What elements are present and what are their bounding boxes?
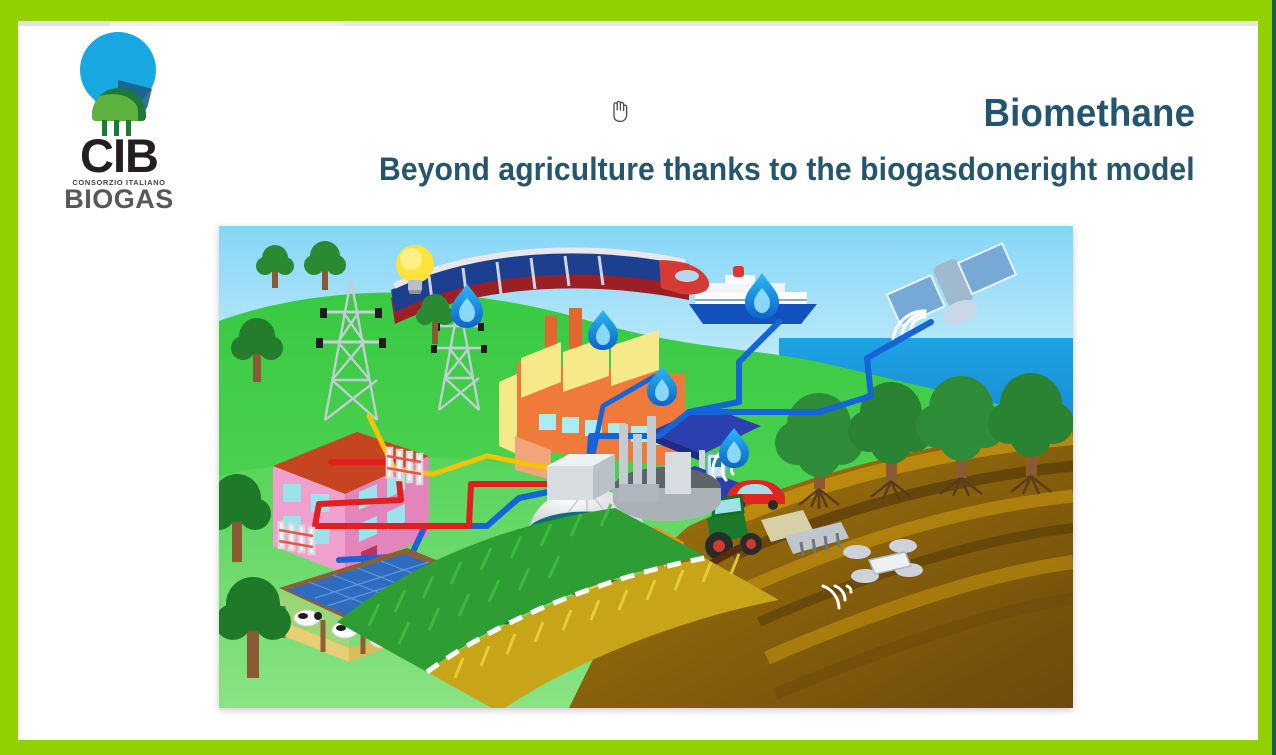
presentation-slide[interactable]: CIB CONSORZIO ITALIANO BIOGAS Biomethane… xyxy=(18,26,1258,740)
viewer-right-edge xyxy=(1272,0,1276,755)
logo-wordmark: BIOGAS xyxy=(62,185,176,213)
biogasdoneright-landscape-diagram[interactable] xyxy=(219,226,1073,708)
slide-viewer[interactable]: CIB CONSORZIO ITALIANO BIOGAS Biomethane… xyxy=(0,0,1276,755)
cib-biogas-logo: CIB CONSORZIO ITALIANO BIOGAS xyxy=(54,28,184,218)
slide-subtitle: Beyond agriculture thanks to the biogasd… xyxy=(379,151,1195,188)
slide-title: Biomethane xyxy=(983,92,1195,136)
grab-hand-cursor-icon xyxy=(608,97,630,123)
hill-shape xyxy=(92,94,138,121)
logo-acronym: CIB xyxy=(62,132,176,179)
